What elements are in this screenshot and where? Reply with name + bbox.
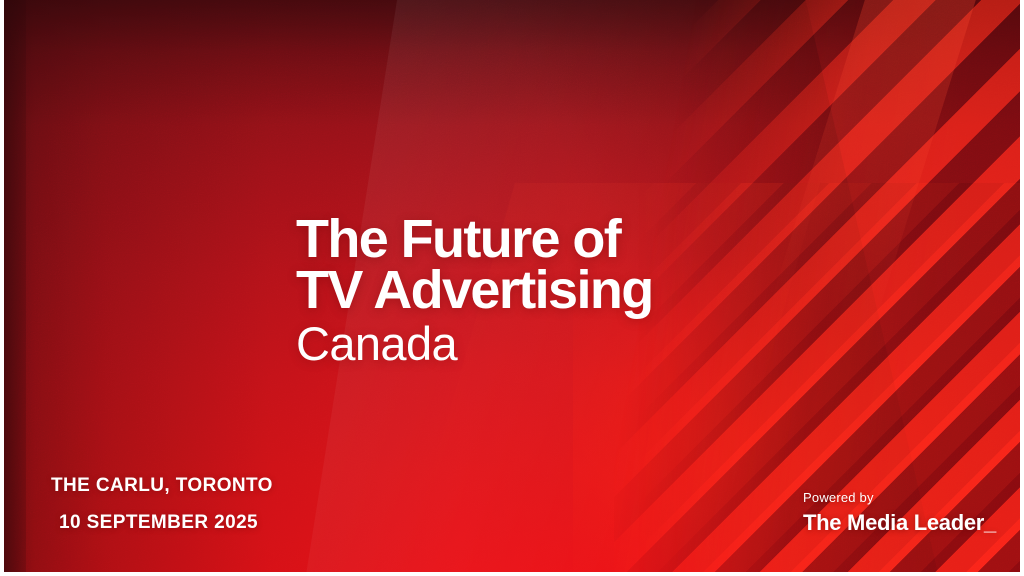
brand-kicker: Powered by xyxy=(803,490,996,505)
event-details: THE CARLU, TORONTO 10 SEPTEMBER 2025 xyxy=(51,475,273,534)
title-block: The Future of TV Advertising Canada xyxy=(296,214,653,368)
title-line-1: The Future of xyxy=(296,214,653,265)
event-venue: THE CARLU, TORONTO xyxy=(51,475,273,497)
slide-content: The Future of TV Advertising Canada THE … xyxy=(4,0,1020,572)
slide-canvas: The Future of TV Advertising Canada THE … xyxy=(4,0,1020,572)
title-line-2: TV Advertising xyxy=(296,265,653,316)
subtitle: Canada xyxy=(296,319,653,369)
brand-lockup: Powered by The Media Leader_ xyxy=(803,490,996,536)
event-date: 10 SEPTEMBER 2025 xyxy=(59,512,273,534)
presentation-slide: The Future of TV Advertising Canada THE … xyxy=(0,0,1024,576)
brand-name: The Media Leader_ xyxy=(803,510,996,536)
